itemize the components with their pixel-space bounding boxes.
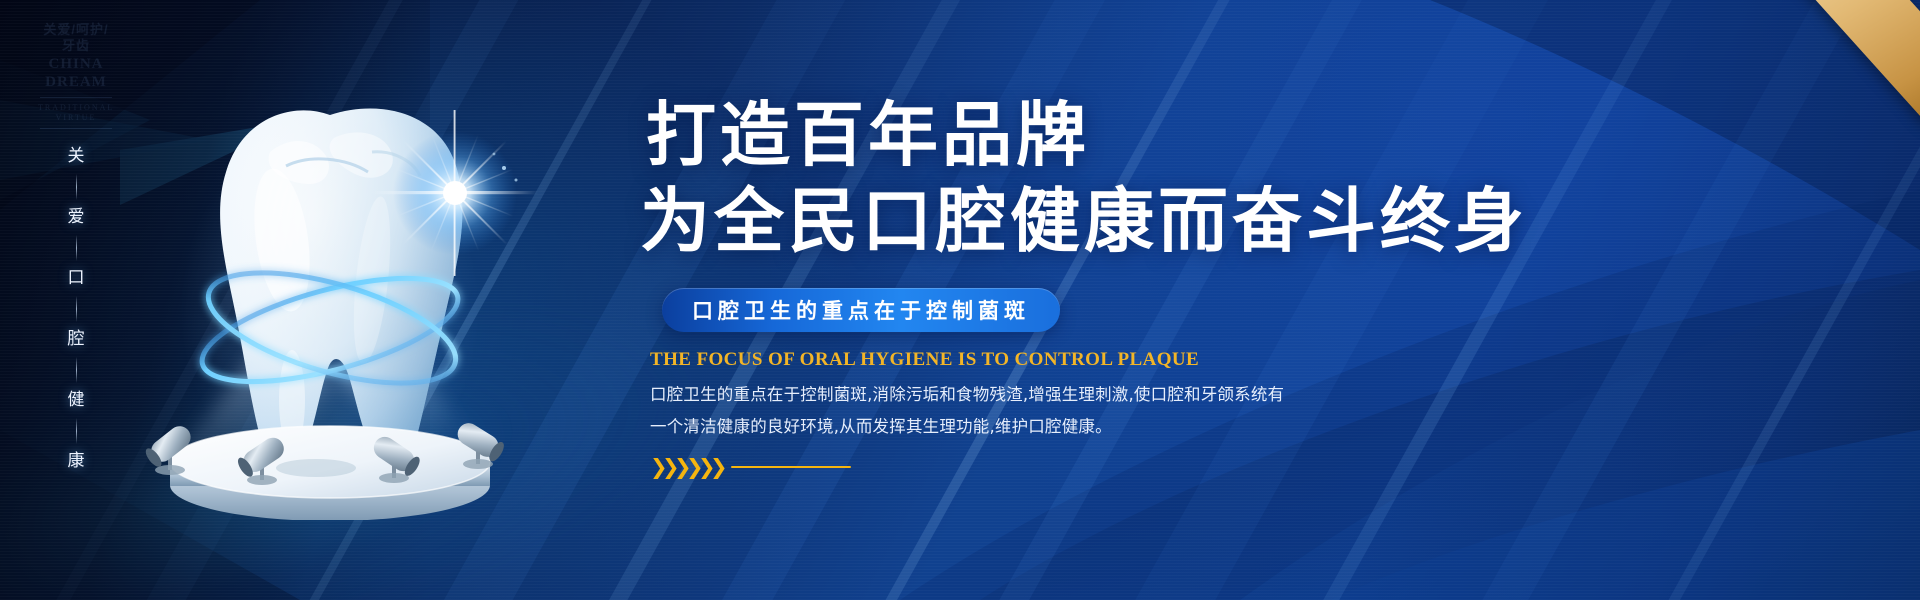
vertical-char-1: 关 [68,148,85,165]
tooth-illustration [120,80,540,520]
ghost-line-2: CHINA DREAM [38,55,114,93]
chevron-icon: ❯ [710,457,723,477]
vertical-char-4: 腔 [68,331,85,348]
tagline-badge: 口腔卫生的重点在于控制菌斑 [662,288,1060,332]
vertical-char-6: 康 [68,453,85,470]
vertical-divider [76,296,77,322]
ghost-line-3: TRADITIONAL VIRTUE [38,103,114,123]
vertical-divider [76,235,77,261]
vertical-divider [76,174,77,200]
copy-column: 打造百年品牌 为全民口腔健康而奋斗终身 口腔卫生的重点在于控制菌斑 THE FO… [640,96,1820,477]
body-paragraph: 口腔卫生的重点在于控制菌斑,消除污垢和食物残渣,增强生理刺激,使口腔和牙颌系统有… [650,379,1290,443]
arrow-decoration: ❯ ❯ ❯ ❯ ❯ ❯ [650,457,1820,477]
ghost-rule [40,97,112,98]
podium [170,426,490,520]
dental-health-banner: 关爱/呵护/牙齿 CHINA DREAM TRADITIONAL VIRTUE … [0,0,1920,600]
vertical-divider [76,418,77,444]
ghost-line-1: 关爱/呵护/牙齿 [38,22,114,55]
gold-rule [731,466,851,469]
vertical-divider [76,357,77,383]
ribbon-label: 关爱口腔健康 [1703,0,1873,8]
vertical-char-2: 爱 [68,209,85,226]
vertical-char-3: 口 [68,270,85,287]
headline-line-2: 为全民口腔健康而奋斗终身 [640,182,1820,262]
vertical-slogan: 关爱/呵护/牙齿 CHINA DREAM TRADITIONAL VIRTUE … [48,22,104,470]
headline: 打造百年品牌 为全民口腔健康而奋斗终身 [640,96,1820,262]
ghost-rule-2 [40,128,112,129]
headline-line-1: 打造百年品牌 [640,96,1820,176]
tooth-svg [120,80,540,520]
ghost-watermark-text: 关爱/呵护/牙齿 CHINA DREAM TRADITIONAL VIRTUE [38,22,114,134]
vertical-char-5: 健 [68,392,85,409]
english-subtitle: THE FOCUS OF ORAL HYGIENE IS TO CONTROL … [650,349,1820,371]
